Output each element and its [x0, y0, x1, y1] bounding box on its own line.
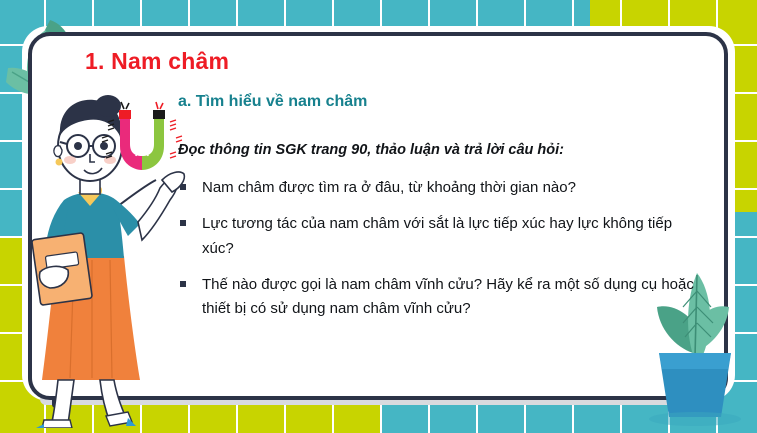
- list-item-text: Nam châm được tìm ra ở đâu, từ khoảng th…: [202, 176, 700, 200]
- question-list: Nam châm được tìm ra ở đâu, từ khoảng th…: [178, 176, 700, 333]
- list-item-text: Lực tương tác của nam châm với sắt là lự…: [202, 212, 700, 261]
- list-item: Thế nào được gọi là nam châm vĩnh cửu? H…: [178, 273, 700, 322]
- u-shaped-magnet-icon: [96, 100, 188, 182]
- section-subtitle: a. Tìm hiểu về nam châm: [178, 93, 367, 111]
- page-title: 1. Nam châm: [85, 48, 229, 75]
- list-item-text: Thế nào được gọi là nam châm vĩnh cửu? H…: [202, 273, 700, 322]
- slide: 1. Nam châm a. Tìm hiểu về nam châm Đọc …: [0, 0, 757, 433]
- instruction-text: Đọc thông tin SGK trang 90, thảo luận và…: [178, 142, 564, 158]
- list-item: Nam châm được tìm ra ở đâu, từ khoảng th…: [178, 176, 700, 200]
- list-item: Lực tương tác của nam châm với sắt là lự…: [178, 212, 700, 261]
